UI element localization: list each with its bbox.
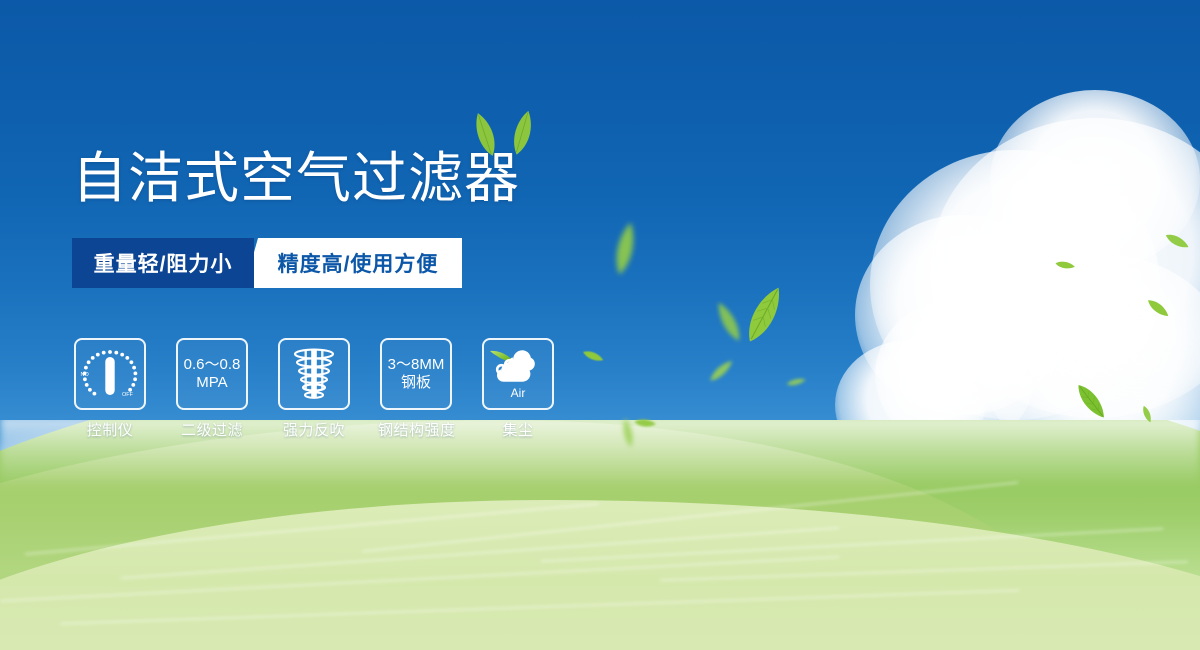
feature-label: 控制仪 [72,419,148,440]
feature-item-filtration[interactable]: 0.6〜0.8 MPA 二级过滤 [174,338,250,440]
feature-icon-box [278,338,350,410]
subtitle-banner: 重量轻/阻力小 精度高/使用方便 [72,238,462,288]
feature-icon-box: 0.6〜0.8 MPA [176,338,248,410]
pressure-text-icon: 0.6〜0.8 MPA [184,356,241,392]
feature-label: 集尘 [480,419,556,440]
feature-item-controller[interactable]: NO OFF 控制仪 [72,338,148,440]
subtitle-left-text: 重量轻/阻力小 [94,248,233,278]
hero-banner: 自洁式空气过滤器 重量轻/阻力小 精度高/使用方便 [0,0,1200,650]
feature-label: 钢结构强度 [378,419,454,440]
page-title: 自洁式空气过滤器 [72,146,520,210]
feature-item-dust[interactable]: Air 集尘 [480,338,556,440]
feature-icon-box: 3〜8MM 钢板 [380,338,452,410]
cloud-air-label: Air [511,386,526,400]
subtitle-right-block: 精度高/使用方便 [244,238,462,288]
feature-list: NO OFF 控制仪 0.6〜0.8 MPA 二级过滤 [72,338,556,440]
gauge-icon: NO OFF [79,343,141,405]
feature-icon-box: Air [482,338,554,410]
feature-icon-box: NO OFF [74,338,146,410]
subtitle-left-block: 重量轻/阻力小 [72,238,254,288]
gauge-on-label: NO [81,372,90,378]
subtitle-right-text: 精度高/使用方便 [268,248,439,278]
feature-item-steel[interactable]: 3〜8MM 钢板 钢结构强度 [378,338,454,440]
feature-item-blowback[interactable]: 强力反吹 [276,338,352,440]
coil-filter-icon [290,346,338,402]
feature-label: 二级过滤 [174,419,250,440]
feature-label: 强力反吹 [276,419,352,440]
gauge-off-label: OFF [122,392,134,398]
cloud-air-icon: Air [488,345,548,403]
steel-text-icon: 3〜8MM 钢板 [388,356,445,392]
